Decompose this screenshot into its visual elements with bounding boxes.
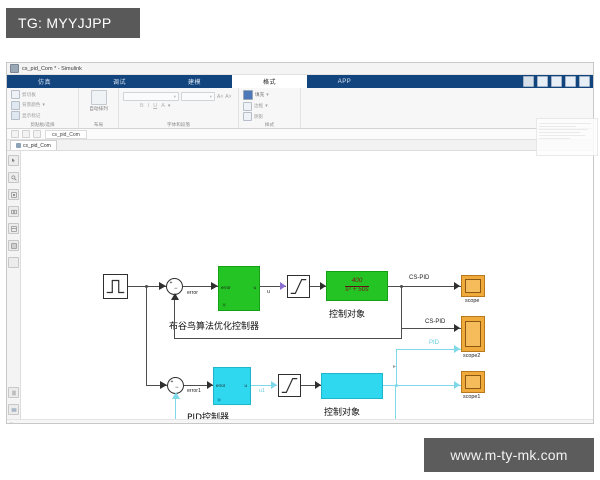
wire-bottom-to-scope2-vert [396,349,397,386]
transfer-function-denominator: s² + 50s [345,287,368,294]
font-size-select[interactable]: ▾ [181,92,215,101]
zoom-icon[interactable] [8,172,19,183]
show-markup-icon [11,111,20,120]
undo-icon[interactable] [537,76,548,87]
cs-pid-signal-label-1: CS-PID [409,275,429,281]
wire-feedback-bottom-vert [395,386,396,419]
background-color-icon [11,101,20,110]
ribbon-group-clipboard-caption: 剪贴板/选择 [11,122,74,128]
wire-feedback-bottom-up [175,396,176,419]
tab-debug-label: 调试 [113,77,126,86]
explorer-icon[interactable] [8,404,19,415]
clipboard-button[interactable]: 剪切板 [11,90,45,99]
model-tabrow: cs_pid_Com [7,140,593,151]
chevron-down-icon[interactable]: ▾ [42,102,45,108]
error-signal-label-top: error [187,290,198,296]
tab-debug[interactable]: 调试 [82,75,157,88]
expand-bar[interactable]: » [7,419,593,424]
breadcrumb-path[interactable]: cs_pid_Com [45,130,87,139]
border-color-icon [243,102,252,111]
font-color-button[interactable]: A [160,103,166,109]
zoom-icon[interactable] [565,76,576,87]
chevron-down-icon[interactable]: ▾ [168,103,171,109]
pid-controller-block[interactable]: error u ▣ [213,367,251,405]
tab-format[interactable]: 格式 [232,75,307,88]
library-icon[interactable] [8,240,19,251]
underline-button[interactable]: U [152,103,158,109]
ribbon-tabstrip: 仿真 调试 建模 格式 APP [7,75,593,88]
model-icon [16,143,21,148]
tab-modeling[interactable]: 建模 [157,75,232,88]
breadcrumb-nav [11,130,41,138]
pid-controller-caption: PID控制器 [187,410,229,419]
cuckoo-controller-block[interactable]: error u ▣ [218,266,260,311]
ribbon-group-layout: 自动排列 布局 [79,88,119,128]
ghost-tooltip-panel [536,118,598,156]
plant-block-bottom[interactable] [321,373,383,399]
scope-block-1[interactable] [461,275,485,297]
fit-to-view-icon[interactable] [8,189,19,200]
border-color-label: 边框 [254,103,263,109]
saturation-block-top[interactable] [287,275,310,298]
workarea: + − error error u ▣ 布谷鸟算法优化控制器 u [7,151,593,419]
show-markup-button[interactable]: 显示标记 [11,111,45,120]
model-browser-icon[interactable] [8,223,19,234]
ribbon-group-style-caption: 样式 [243,122,296,128]
controller-in-port-label-top: error [221,285,231,290]
sum-minus-sign: − [174,286,178,292]
ribbon-group-style: 填充 ▾ 边框 ▾ 阴影 样式 [239,88,301,128]
canvas-toolbar [7,151,21,419]
scope-label-3: scope1 [463,394,480,400]
top-watermark-badge: TG: MYYJJPP [6,8,140,38]
sum-plus-sign: + [170,280,173,286]
chevron-down-icon: ▾ [174,94,176,100]
step-input-block[interactable] [103,274,128,299]
arrow-into-scope2-cspid [454,324,461,332]
forward-icon[interactable] [22,130,30,138]
mouse-cursor: ▸ [393,363,396,370]
sum-minus-sign-bottom: − [175,385,179,391]
shadow-label: 阴影 [254,114,263,120]
plant-caption-top: 控制对象 [329,307,365,320]
transfer-function-block[interactable]: 400 s² + 50s [326,271,388,301]
show-markup-label: 显示标记 [22,113,40,119]
scope-screen [465,279,481,293]
model-tab-cs-pid-com[interactable]: cs_pid_Com [10,140,57,150]
saturation-curve-icon-bottom [279,375,300,396]
italic-button[interactable]: I [147,103,151,109]
ribbon-group-clipboard: 剪切板 背景颜色 ▾ 显示标记 剪贴板/选择 [7,88,79,128]
arrow-into-saturation-top [280,282,287,290]
wire-bottom-to-scope2-horz [396,349,461,350]
fill-color-button[interactable]: 填充 ▾ [243,90,269,100]
u1-signal-label: u1 [259,388,265,394]
arrow-into-scope2-pid [454,345,461,353]
bold-button[interactable]: B [139,103,145,109]
layout-icon[interactable] [8,206,19,217]
auto-arrange-icon [91,90,107,105]
window-title: cs_pid_Com * - Simulink [22,66,82,72]
fill-color-label: 填充 [255,92,264,98]
background-color-label: 背景颜色 [22,102,40,108]
model-tab-label: cs_pid_Com [23,143,51,149]
increase-font-icon[interactable]: A˄ [217,94,223,100]
blank-icon[interactable] [8,257,19,268]
auto-arrange-button[interactable]: 自动排列 [84,90,114,112]
arrow-feedback-into-sum-bottom [172,392,180,399]
wire-plant-out-top [388,286,461,287]
tab-format-label: 格式 [263,77,276,86]
redo-icon[interactable] [551,76,562,87]
chevron-down-icon[interactable]: ▾ [265,103,268,109]
arrow-into-scope [454,282,461,290]
ribbon-body: 剪切板 背景颜色 ▾ 显示标记 剪贴板/选择 [7,88,593,129]
wire-cspid-to-scope2-vert [401,286,402,329]
chevron-down-icon: ▾ [210,94,212,100]
pid-in-port-label: error [216,383,225,388]
tab-simulation[interactable]: 仿真 [7,75,82,88]
wire-feedback-top-horz [174,338,402,339]
shadow-button[interactable]: 阴影 [243,112,269,121]
controller-badge-top: ▣ [222,302,226,307]
bottom-watermark-text: www.m-ty-mk.com [450,447,567,463]
arrow-into-sum-top [159,282,167,290]
arrow-into-scope1 [454,381,461,389]
save-icon[interactable] [523,76,534,87]
quick-access-toolbar [523,76,590,87]
saturation-block-bottom[interactable] [278,374,301,397]
font-name-select[interactable]: ▾ [123,92,179,101]
more-icon[interactable] [579,76,590,87]
clipboard-button-label: 剪切板 [22,92,36,98]
arrow-into-sum-bottom [160,381,168,389]
scope-label-1: scope [465,298,479,304]
back-icon[interactable] [11,130,19,138]
simulink-icon [10,64,19,73]
expand-chevron-icon[interactable]: » [10,421,13,424]
scope-label-2: scope2 [463,353,480,359]
clipboard-icon [11,90,20,99]
scope1-screen [465,375,481,389]
ribbon-group-font: ▾ ▾ A˄ A˅ B I U A ▾ 字体和段落 [119,88,239,128]
ribbon-group-font-caption: 字体和段落 [123,122,234,128]
auto-arrange-label: 自动排列 [89,106,107,112]
tab-apps-label: APP [338,79,352,85]
fill-color-icon [243,90,253,100]
wire-feedback-top-up [174,297,175,339]
shadow-icon [243,112,252,121]
bottom-watermark-badge: www.m-ty-mk.com [424,438,594,472]
top-watermark-text: TG: MYYJJPP [18,15,112,31]
arrow-feedback-into-sum-top [171,293,179,300]
decrease-font-icon[interactable]: A˅ [225,94,231,100]
breadcrumb: cs_pid_Com [7,129,593,140]
properties-icon[interactable] [8,387,19,398]
arrow-into-saturation-bottom [271,381,278,389]
window-titlebar: cs_pid_Com * - Simulink [7,63,593,75]
scope-block-2[interactable] [461,316,485,352]
background-color-button[interactable]: 背景颜色 ▾ [11,101,45,110]
controller-out-port-label-top: u [253,285,256,290]
wire-step-branch-down [146,286,147,386]
u-signal-label-top: u [267,289,270,295]
step-waveform-icon [104,275,127,298]
error1-signal-label: error1 [187,388,201,394]
up-icon[interactable] [33,130,41,138]
wire-cspid-to-scope2-horz [401,328,461,329]
cs-pid-signal-label-2: CS-PID [425,319,445,325]
cuckoo-controller-caption: 布谷鸟算法优化控制器 [169,319,259,332]
pid-signal-label: PID [429,340,439,346]
simulink-window: cs_pid_Com * - Simulink 仿真 调试 建模 格式 APP [6,62,594,424]
tab-simulation-label: 仿真 [38,77,51,86]
model-canvas[interactable]: + − error error u ▣ 布谷鸟算法优化控制器 u [21,151,593,419]
scope2-screen [465,321,481,347]
plant-caption-bottom: 控制对象 [324,405,360,418]
saturation-curve-icon [288,276,309,297]
scope-block-3[interactable] [461,371,485,393]
pid-out-port-label: u [245,383,247,388]
tab-apps[interactable]: APP [307,75,382,88]
sum-plus-sign-bottom: + [171,379,174,385]
chevron-down-icon[interactable]: ▾ [266,92,269,98]
ribbon-group-layout-caption: 布局 [83,122,114,128]
tab-modeling-label: 建模 [188,77,201,86]
pointer-icon[interactable] [8,155,19,166]
pid-badge: ▣ [217,397,221,402]
border-color-button[interactable]: 边框 ▾ [243,102,269,111]
